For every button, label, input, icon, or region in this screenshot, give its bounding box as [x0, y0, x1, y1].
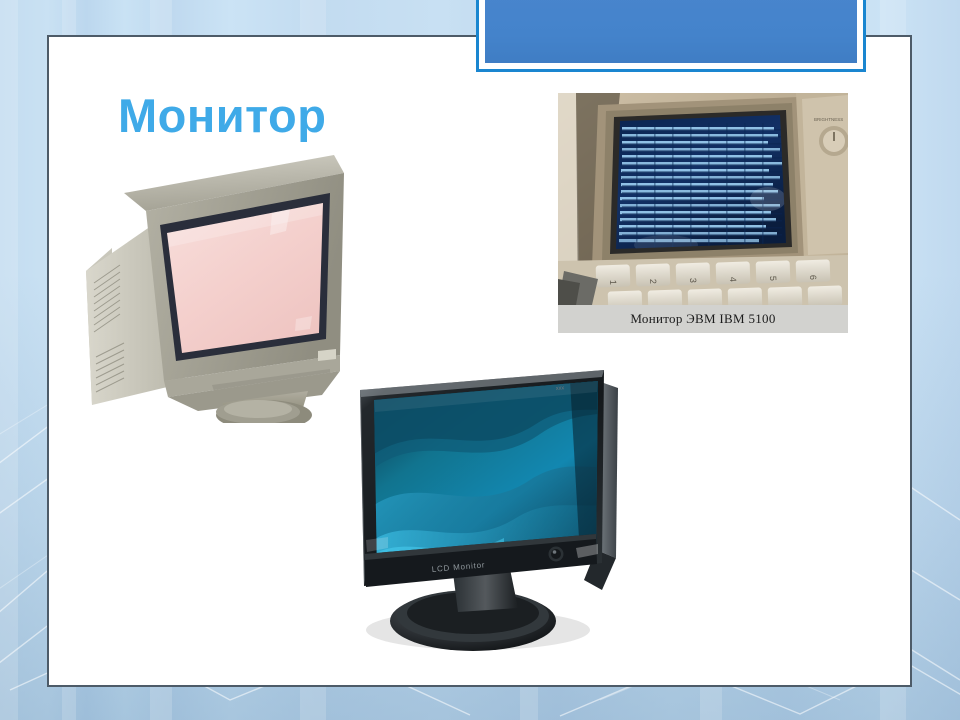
ibm-5100-photo-image: BRIGHTNESS 1	[558, 93, 848, 305]
lcd-brand-logo: xxx	[556, 385, 565, 392]
crt-monitor-image	[72, 143, 354, 423]
svg-text:2: 2	[648, 279, 658, 284]
lcd-monitor-image: LCD Monitor xxx	[340, 358, 642, 658]
top-blue-banner-fill	[485, 0, 857, 63]
svg-text:6: 6	[808, 275, 818, 280]
page-title: Монитор	[118, 88, 326, 143]
svg-text:5: 5	[768, 276, 778, 281]
machine-panel-label: BRIGHTNESS	[814, 117, 843, 122]
svg-text:4: 4	[728, 277, 738, 282]
presentation-slide: Монитор	[0, 0, 960, 720]
svg-text:1: 1	[608, 280, 618, 285]
ibm-5100-photo: BRIGHTNESS 1	[558, 93, 848, 333]
svg-text:3: 3	[688, 278, 698, 283]
top-blue-banner	[476, 0, 866, 72]
photo-caption: Монитор ЭВМ IBM 5100	[558, 305, 848, 333]
